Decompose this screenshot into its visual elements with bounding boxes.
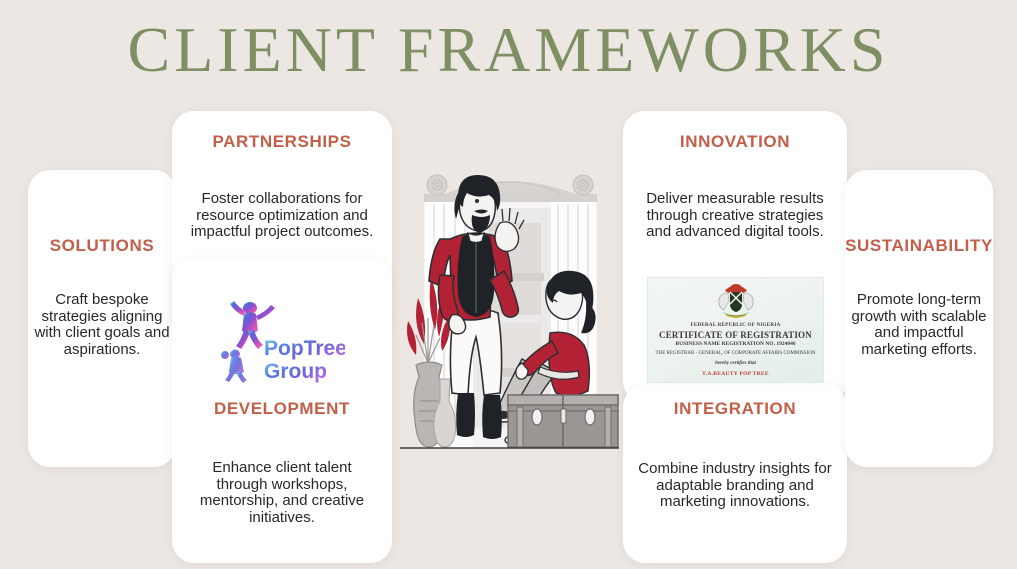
certificate-country: FEDERAL REPUBLIC OF NIGERIA [648, 323, 823, 328]
nigeria-coat-of-arms-icon [708, 281, 764, 321]
card-innovation-body: Deliver measurable results through creat… [623, 191, 847, 241]
slide-canvas: CLIENT FRAMEWORKS SOLUTIONS Craft bespok… [0, 0, 1017, 569]
certificate-of-registration-image: FEDERAL REPUBLIC OF NIGERIA CERTIFICATE … [647, 277, 824, 383]
certificate-registrar: THE REGISTRAR - GENERAL, OF CORPORATE AF… [648, 351, 823, 356]
poptree-logo-line2: Group [264, 360, 327, 383]
certificate-reg-number: BUSINESS NAME REGISTRATION NO. 1924046 [648, 341, 823, 347]
card-development-heading: DEVELOPMENT [172, 399, 392, 419]
card-sustainability-body: Promote long-term growth with scalable a… [845, 292, 993, 358]
card-integration-heading: INTEGRATION [623, 399, 847, 419]
card-solutions-heading: SOLUTIONS [28, 236, 176, 256]
card-integration[interactable]: INTEGRATION Combine industry insights fo… [623, 385, 847, 563]
poptree-group-logo: PopTree Group [219, 297, 345, 387]
card-development-body: Enhance client talent through workshops,… [172, 460, 392, 526]
certificate-certifies: hereby certifies that [648, 361, 823, 366]
card-innovation-heading: INNOVATION [623, 132, 847, 152]
card-integration-body: Combine industry insights for adaptable … [623, 461, 847, 511]
card-sustainability-heading: SUSTAINABILITY [845, 236, 993, 256]
certificate-business-name: T.A.BEAUTY POP TREE [648, 371, 823, 377]
card-solutions[interactable]: SOLUTIONS Craft bespoke strategies align… [28, 170, 176, 467]
card-sustainability[interactable]: SUSTAINABILITY Promote long-term growth … [845, 170, 993, 467]
card-solutions-body: Craft bespoke strategies aligning with c… [28, 292, 176, 358]
page-title: CLIENT FRAMEWORKS [0, 14, 1017, 86]
two-people-interior-illustration [400, 163, 619, 458]
certificate-title: CERTIFICATE OF REGISTRATION [648, 330, 823, 340]
poptree-logo-line1: PopTree [264, 337, 345, 360]
card-partnerships-heading: PARTNERSHIPS [172, 132, 392, 152]
card-partnerships-body: Foster collaborations for resource optim… [172, 191, 392, 241]
